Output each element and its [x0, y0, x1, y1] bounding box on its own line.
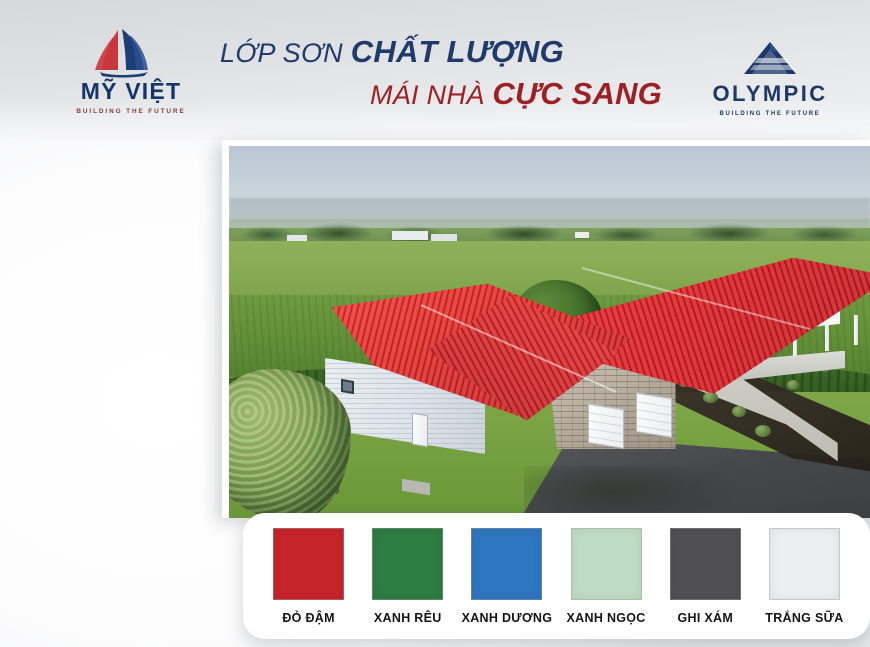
shrub — [703, 392, 718, 403]
headline-line-1-lead: LỚP SƠN — [220, 38, 351, 68]
swatch-xanh-duong[interactable]: XANH DƯƠNG — [457, 528, 556, 625]
headline-line-2-lead: MÁI NHÀ — [370, 80, 492, 110]
olympic-tagline: BUILDING THE FUTURE — [700, 111, 840, 117]
shrub — [755, 425, 771, 437]
entry-stoop — [402, 479, 430, 495]
headline-line-2-emphasis: CỰC SANG — [492, 76, 662, 111]
headline-line-1-emphasis: CHẤT LƯỢNG — [351, 34, 564, 69]
color-label: XANH RÊU — [374, 611, 442, 625]
color-label: TRẮNG SỮA — [765, 611, 843, 625]
swatch-do-dam[interactable]: ĐỎ ĐẬM — [259, 528, 358, 625]
color-chip[interactable] — [769, 528, 840, 600]
color-chip[interactable] — [471, 528, 542, 600]
my-viet-name: MỸ VIỆT — [56, 80, 206, 103]
swatch-ghi-xam[interactable]: GHI XÁM — [656, 528, 755, 625]
tree-shadow — [524, 466, 744, 518]
color-label: XANH DƯƠNG — [462, 611, 553, 625]
my-viet-tagline: BUILDING THE FUTURE — [56, 108, 206, 115]
headline-line-1: LỚP SƠN CHẤT LƯỢNG — [206, 36, 676, 69]
color-swatch-card: ĐỎ ĐẬM XANH RÊU XANH DƯƠNG XANH NGỌC GHI… — [243, 513, 870, 639]
headline: LỚP SƠN CHẤT LƯỢNG MÁI NHÀ CỰC SANG — [206, 36, 676, 111]
garage-door — [636, 392, 672, 438]
my-viet-logo: MỸ VIỆT BUILDING THE FUTURE — [56, 26, 206, 126]
color-label: GHI XÁM — [677, 611, 733, 625]
color-label: ĐỎ ĐẬM — [282, 611, 335, 625]
house-photo — [229, 146, 870, 518]
garage-door — [588, 404, 624, 450]
color-chip[interactable] — [273, 528, 344, 600]
color-chip[interactable] — [372, 528, 443, 600]
color-label: XANH NGỌC — [567, 611, 646, 625]
window — [341, 379, 354, 394]
porch-column — [854, 315, 858, 345]
entry-door — [412, 412, 428, 447]
promo-poster: MỸ VIỆT BUILDING THE FUTURE LỚP SƠN CHẤT… — [0, 0, 870, 647]
color-chip[interactable] — [670, 528, 741, 600]
swatch-xanh-reu[interactable]: XANH RÊU — [358, 528, 457, 625]
swatch-trang-sua[interactable]: TRẮNG SỮA — [755, 528, 854, 625]
shrub — [787, 380, 799, 390]
headline-line-2: MÁI NHÀ CỰC SANG — [206, 78, 676, 111]
mountain-icon — [700, 40, 840, 80]
photo-panel — [222, 140, 870, 518]
sailboat-icon — [56, 26, 206, 78]
foreground-bush — [229, 369, 351, 518]
olympic-name: OLYMPIC — [700, 83, 840, 105]
olympic-logo: OLYMPIC BUILDING THE FUTURE — [700, 40, 840, 117]
swatch-xanh-ngoc[interactable]: XANH NGỌC — [557, 528, 656, 625]
color-chip[interactable] — [571, 528, 642, 600]
